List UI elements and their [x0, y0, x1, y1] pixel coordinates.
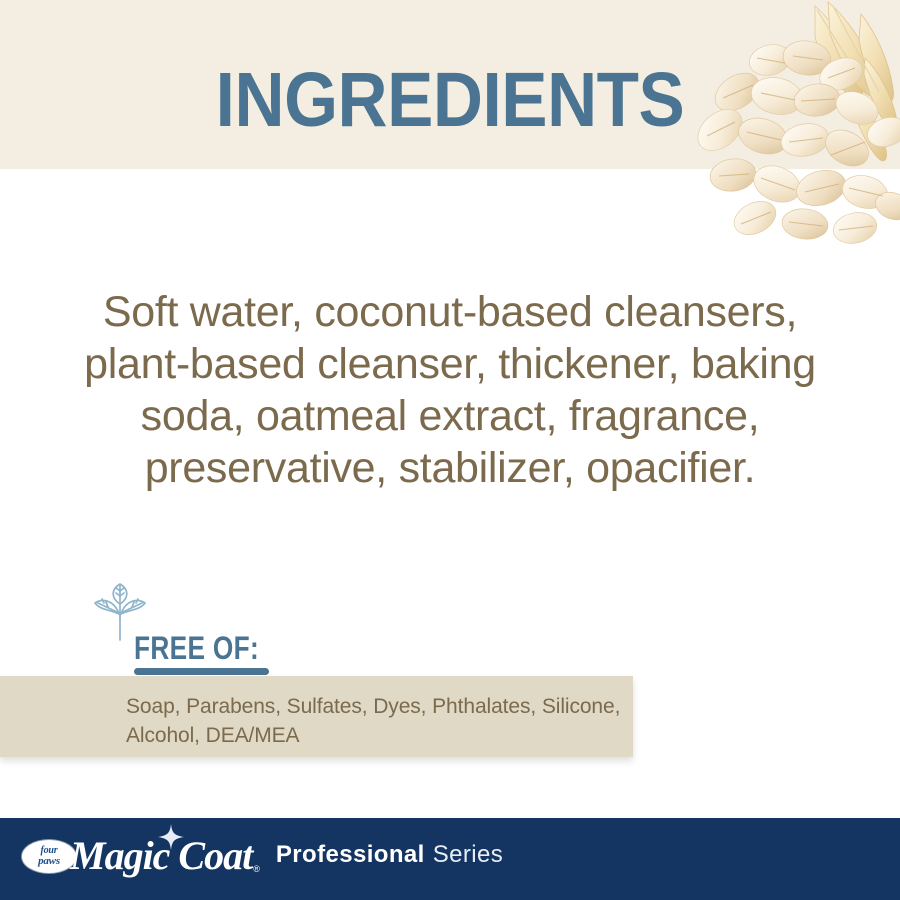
free-of-label: FREE OF: — [134, 632, 259, 664]
ingredients-text: Soft water, coconut-based cleansers, pla… — [60, 286, 840, 494]
four-paws-line2: paws — [38, 856, 60, 867]
magic-coat-script: Magic Coat — [70, 836, 252, 876]
tagline-series: Series — [433, 841, 503, 869]
ingredients-panel: INGREDIENTS Soft water, coconut-based cl… — [0, 0, 900, 900]
professional-series-tagline: Professional Series — [276, 841, 503, 871]
tagline-professional: Professional — [276, 841, 425, 869]
free-of-underline — [134, 668, 269, 675]
registered-mark: ® — [253, 864, 260, 874]
brand-lockup: four paws Magic Coat ® Professional Seri… — [22, 832, 503, 880]
four-paws-line1: four — [41, 846, 58, 856]
page-title: INGREDIENTS — [45, 62, 855, 139]
four-paws-oval-logo: four paws — [22, 840, 76, 873]
free-of-list: Soap, Parabens, Sulfates, Dyes, Phthalat… — [126, 692, 626, 750]
magic-coat-wordmark: Magic Coat ® — [70, 836, 260, 876]
